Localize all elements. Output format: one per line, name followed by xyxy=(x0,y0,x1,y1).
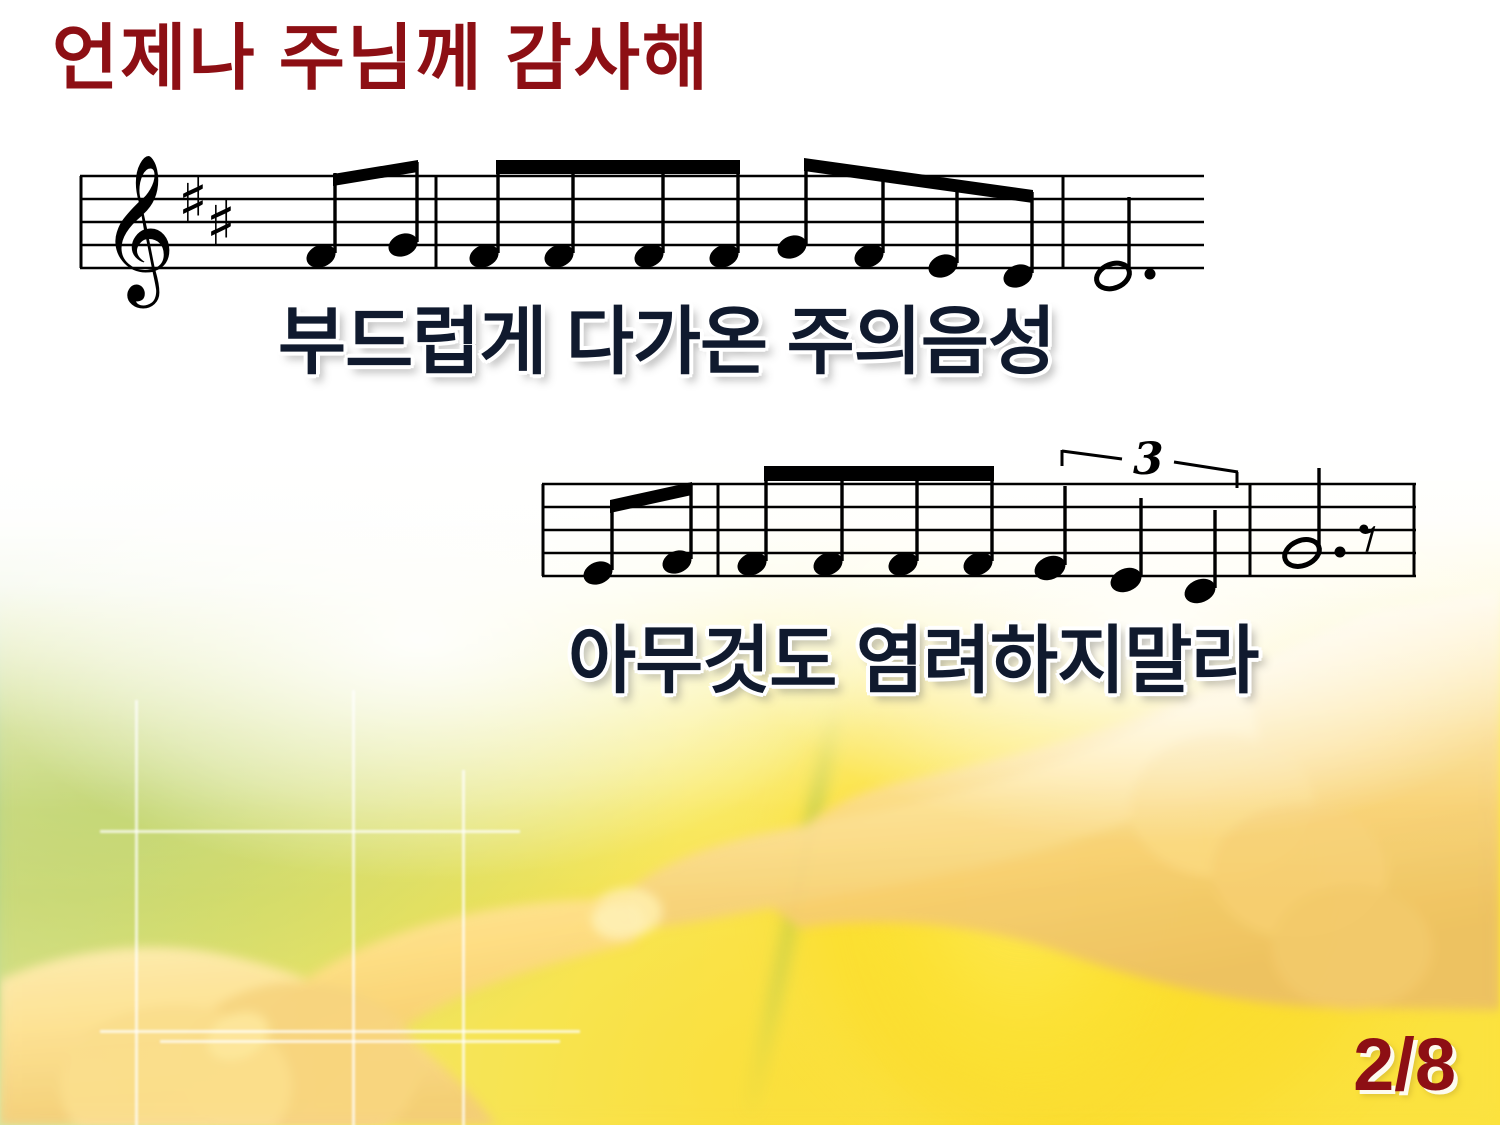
grid-line-vertical xyxy=(462,770,465,1125)
svg-text:♯: ♯ xyxy=(178,164,208,237)
grid-line-horizontal xyxy=(100,1030,580,1033)
svg-text:𝄞: 𝄞 xyxy=(100,153,176,308)
grid-line-vertical xyxy=(352,690,355,1125)
quarter-rest-glyph: 𝄾 xyxy=(1358,496,1378,582)
music-staff-2: 3 𝄾 xyxy=(540,428,1420,613)
lyric-line-2: 아무것도 염려하지말라 xyxy=(568,624,1258,698)
page-number: 2/8 xyxy=(1353,1022,1456,1107)
grid-line-horizontal xyxy=(100,830,520,833)
triplet-number: 3 xyxy=(1133,434,1164,485)
grid-line-horizontal xyxy=(160,1040,560,1043)
grid-line-vertical xyxy=(135,700,138,1125)
music-staff-1: 𝄞 ♯ ♯ xyxy=(78,140,1208,300)
slide-title: 언제나 주님께 감사해 xyxy=(52,22,710,98)
lyric-line-1: 부드럽게 다가온 주의음성 xyxy=(278,305,1055,379)
slide-canvas: 언제나 주님께 감사해 𝄞 ♯ ♯ xyxy=(0,0,1500,1125)
svg-text:♯: ♯ xyxy=(206,186,236,259)
